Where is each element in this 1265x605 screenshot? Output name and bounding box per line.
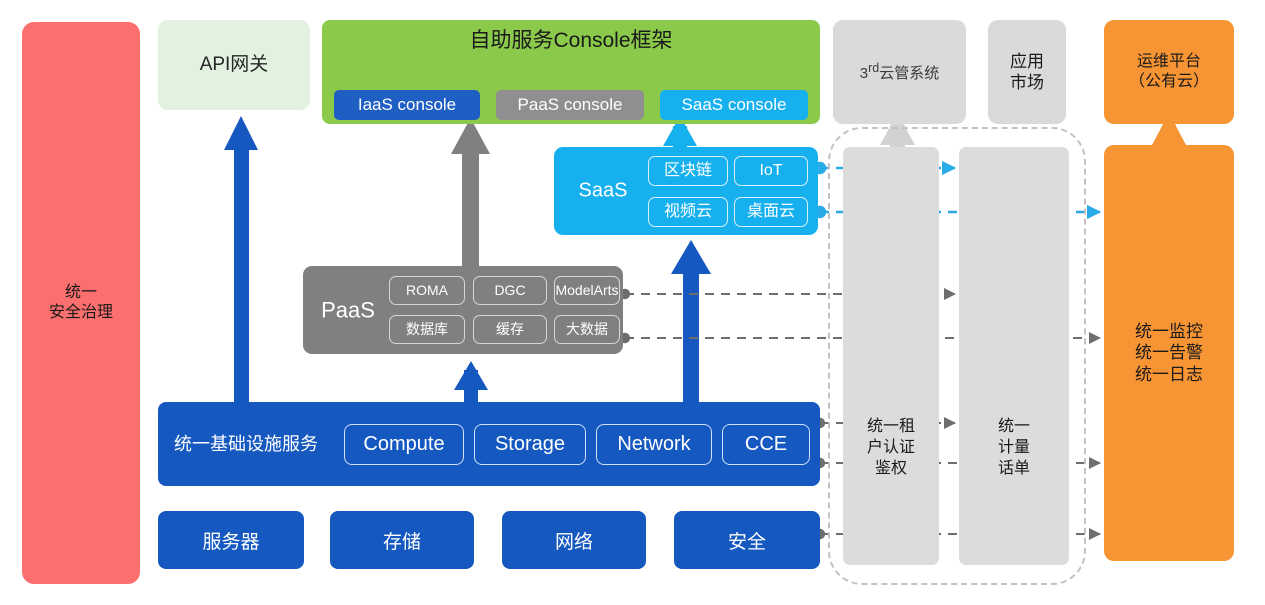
hardware-network-box[interactable]: 网络: [502, 511, 646, 569]
app-market-line-1: 应用: [1010, 51, 1044, 72]
saas-service-blockchain[interactable]: 区块链: [648, 156, 728, 186]
third-party-label: 3rd云管系统: [860, 61, 939, 84]
unified-auth-column: 统一租 户认证 鉴权: [843, 147, 939, 565]
ops-top-line-2: （公有云）: [1129, 72, 1209, 92]
ops-platform-box: 运维平台 （公有云）: [1104, 20, 1234, 124]
paas-console-chip[interactable]: PaaS console: [496, 90, 644, 120]
third-party-cloud-mgmt-box: 3rd云管系统: [833, 20, 966, 124]
arrow-paas-to-console: [451, 118, 490, 268]
infrastructure-service-panel: 统一基础设施服务 Compute Storage Network CCE: [158, 402, 820, 486]
paas-layer-label: PaaS: [309, 296, 387, 324]
paas-service-database[interactable]: 数据库: [389, 315, 465, 344]
paas-service-cache[interactable]: 缓存: [473, 315, 547, 344]
console-framework-panel: 自助服务Console框架 IaaS console PaaS console …: [322, 20, 820, 124]
third-party-suffix: 云管系统: [879, 65, 939, 82]
api-gateway-box: API网关: [158, 20, 310, 110]
ops-monitoring-panel: 统一监控 统一告警 统一日志: [1104, 145, 1234, 561]
saas-service-video-cloud[interactable]: 视频云: [648, 197, 728, 227]
arrow-infra-to-paas: [454, 361, 488, 404]
billing-line-2: 计量: [959, 438, 1069, 459]
app-market-line-2: 市场: [1010, 72, 1044, 93]
arrow-infra-to-apigw: [224, 116, 258, 402]
paas-service-roma[interactable]: ROMA: [389, 276, 465, 305]
ops-top-line-1: 运维平台: [1129, 52, 1209, 72]
saas-service-iot[interactable]: IoT: [734, 156, 808, 186]
security-line-2: 安全治理: [49, 303, 113, 323]
infra-service-cce[interactable]: CCE: [722, 424, 810, 465]
paas-service-bigdata[interactable]: 大数据: [554, 315, 620, 344]
saas-console-chip[interactable]: SaaS console: [660, 90, 808, 120]
billing-line-3: 话单: [959, 459, 1069, 480]
architecture-diagram: 统一 安全治理 API网关 自助服务Console框架 IaaS console…: [0, 0, 1265, 605]
auth-line-1: 统一租: [843, 417, 939, 438]
infrastructure-label: 统一基础设施服务: [174, 433, 318, 456]
saas-layer-label: SaaS: [564, 179, 642, 204]
api-gateway-label: API网关: [200, 53, 269, 77]
auth-line-3: 鉴权: [843, 459, 939, 480]
ops-main-line-1: 统一监控: [1135, 321, 1203, 342]
paas-service-dgc[interactable]: DGC: [473, 276, 547, 305]
paas-layer-panel: PaaS ROMA DGC ModelArts 数据库 缓存 大数据: [303, 266, 623, 354]
console-framework-title: 自助服务Console框架: [322, 28, 820, 54]
infra-service-compute[interactable]: Compute: [344, 424, 464, 465]
saas-service-desktop-cloud[interactable]: 桌面云: [734, 197, 808, 227]
arrow-infra-to-saas: [671, 240, 711, 404]
ops-main-line-2: 统一告警: [1135, 342, 1203, 363]
security-governance-panel: 统一 安全治理: [22, 22, 140, 584]
app-market-box: 应用 市场: [988, 20, 1066, 124]
billing-line-1: 统一: [959, 417, 1069, 438]
saas-layer-panel: SaaS 区块链 IoT 视频云 桌面云: [554, 147, 818, 235]
auth-line-2: 户认证: [843, 438, 939, 459]
third-party-prefix: 3: [860, 65, 868, 82]
hardware-storage-box[interactable]: 存储: [330, 511, 474, 569]
ops-main-line-3: 统一日志: [1135, 364, 1203, 385]
paas-service-modelarts[interactable]: ModelArts: [554, 276, 620, 305]
hardware-security-box[interactable]: 安全: [674, 511, 820, 569]
iaas-console-chip[interactable]: IaaS console: [334, 90, 480, 120]
security-line-1: 统一: [49, 283, 113, 303]
hardware-server-box[interactable]: 服务器: [158, 511, 304, 569]
infra-service-storage[interactable]: Storage: [474, 424, 586, 465]
third-party-sup: rd: [868, 61, 879, 75]
infra-service-network[interactable]: Network: [596, 424, 712, 465]
unified-billing-column: 统一 计量 话单: [959, 147, 1069, 565]
